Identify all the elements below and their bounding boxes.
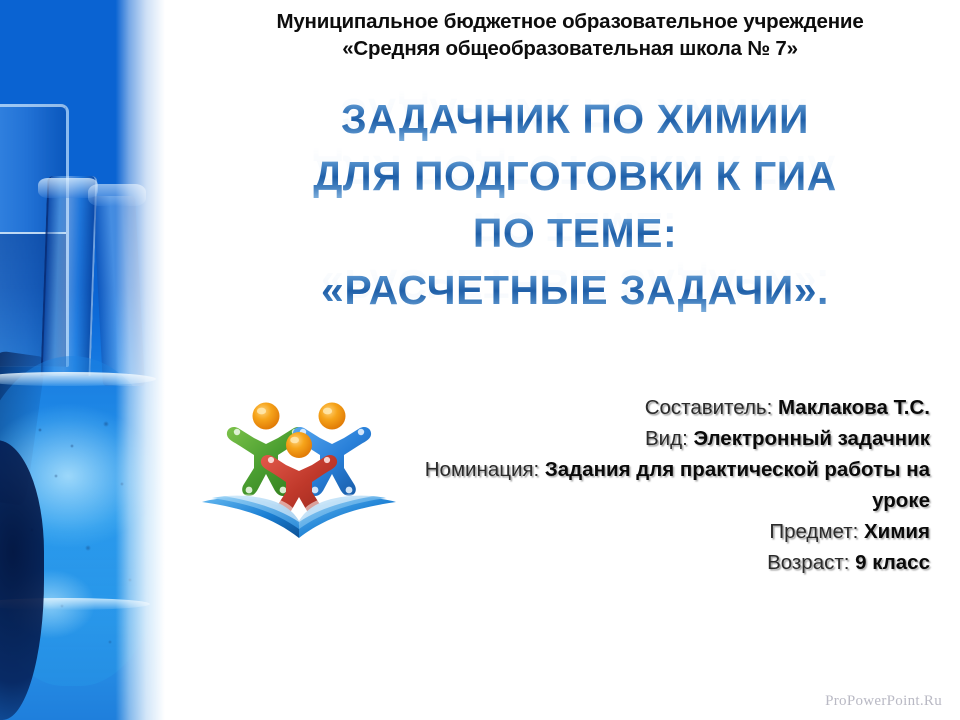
metadata-value-type: Электронный задачник bbox=[693, 427, 930, 450]
metadata-row-nomination: Номинация: Задания для практической рабо… bbox=[410, 454, 930, 516]
metadata-value-subject: Химия bbox=[864, 520, 930, 543]
logo-head-blue bbox=[319, 403, 346, 430]
metadata-row-subject: Предмет: Химия bbox=[410, 516, 930, 547]
metadata-block: Составитель: Маклакова Т.С. Вид: Электро… bbox=[410, 392, 930, 578]
photo-white-fade-overlay bbox=[0, 0, 170, 720]
watermark: ProPowerPoint.Ru bbox=[825, 693, 942, 710]
metadata-row-type: Вид: Электронный задачник bbox=[410, 423, 930, 454]
title-line-2: для подготовки к ГИА bbox=[190, 153, 960, 199]
metadata-label-nomination: Номинация: bbox=[425, 458, 539, 481]
institution-header: Муниципальное бюджетное образовательное … bbox=[190, 8, 950, 62]
slide-title: Задачник по химии Задачник по химии для … bbox=[190, 96, 960, 324]
metadata-value-author: Маклакова Т.С. bbox=[778, 396, 930, 419]
title-line-1: Задачник по химии bbox=[190, 96, 960, 142]
institution-line-1: Муниципальное бюджетное образовательное … bbox=[190, 8, 950, 35]
metadata-row-age: Возраст: 9 класс bbox=[410, 547, 930, 578]
logo-head-red bbox=[286, 432, 312, 458]
title-line-wrap-1: Задачник по химии Задачник по химии bbox=[190, 96, 960, 153]
metadata-label-subject: Предмет: bbox=[769, 520, 858, 543]
title-line-wrap-2: для подготовки к ГИА для подготовки к ГИ… bbox=[190, 153, 960, 210]
metadata-label-age: Возраст: bbox=[767, 551, 849, 574]
metadata-label-type: Вид: bbox=[645, 427, 688, 450]
school-education-logo bbox=[196, 392, 402, 544]
logo-head-green bbox=[253, 403, 280, 430]
lab-glassware-photo bbox=[0, 0, 170, 720]
presentation-slide: Муниципальное бюджетное образовательное … bbox=[0, 0, 960, 720]
title-line-wrap-3: по теме: по теме: bbox=[190, 210, 960, 267]
title-line-wrap-4: «Расчетные задачи». «Расчетные задачи». bbox=[190, 267, 960, 324]
title-line-4: «Расчетные задачи». bbox=[190, 267, 960, 313]
logo-book bbox=[202, 494, 396, 538]
title-line-3: по теме: bbox=[190, 210, 960, 256]
metadata-value-nomination: Задания для практической работы на уроке bbox=[545, 458, 930, 512]
metadata-value-age: 9 класс bbox=[855, 551, 930, 574]
logo-svg bbox=[196, 392, 402, 544]
institution-line-2: «Средняя общеобразовательная школа № 7» bbox=[190, 35, 950, 62]
metadata-row-author: Составитель: Маклакова Т.С. bbox=[410, 392, 930, 423]
metadata-label-author: Составитель: bbox=[645, 396, 773, 419]
